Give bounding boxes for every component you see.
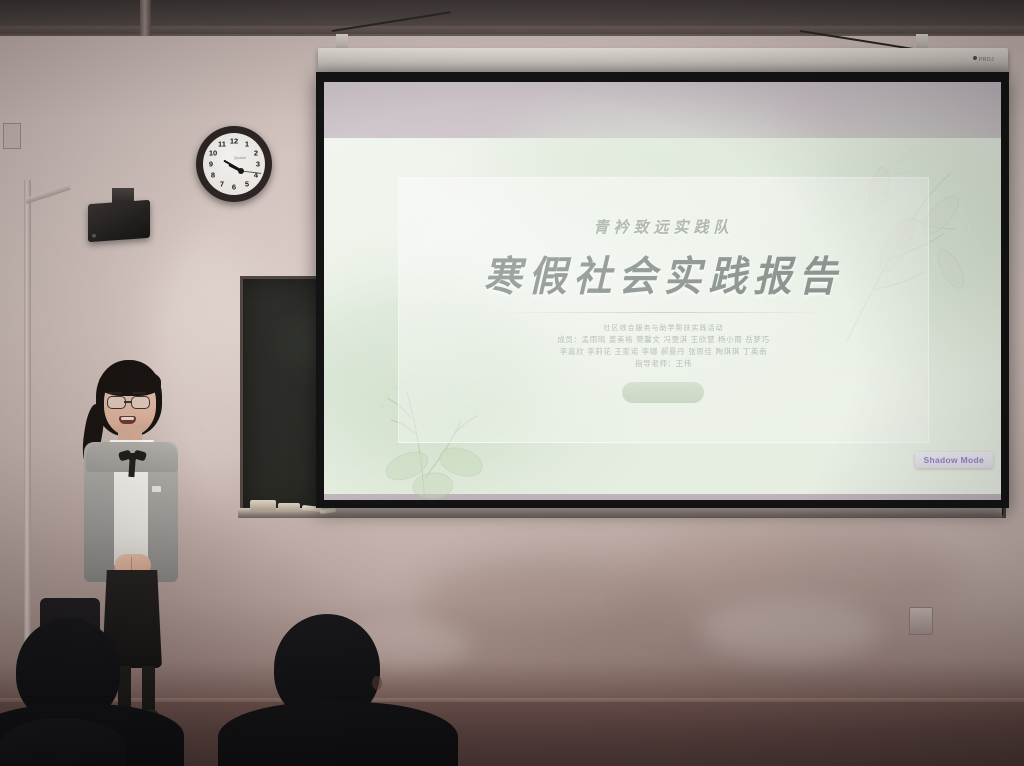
presenter-eyebrow — [108, 392, 122, 394]
slide-meta-line-2: 成员：孟雨晴 姜美格 樊馨文 冯雯淇 王欣慧 杨小雨 岳梦巧 — [557, 334, 769, 346]
clock-numeral: 8 — [211, 171, 215, 180]
slide-divider — [498, 312, 828, 313]
clock-numeral: 9 — [209, 160, 213, 169]
wall-conduit — [24, 180, 31, 650]
clock-numeral: 7 — [220, 180, 224, 189]
presenter-eyebrow — [132, 392, 146, 394]
shadow-mode-badge[interactable]: Shadow Mode — [915, 452, 993, 468]
wall-socket[interactable] — [909, 607, 933, 635]
glasses-lens-right — [131, 396, 150, 409]
projection-screen: 青衿致远实践队 寒假社会实践报告 社区综合服务与助学帮扶实践活动 成员：孟雨晴 … — [316, 72, 1009, 508]
screen-roller-casing[interactable]: PROJ — [318, 48, 1008, 74]
clock-center-pin — [238, 168, 244, 174]
speaker-led — [92, 234, 96, 238]
clock-brand-text: Quartz — [234, 155, 246, 160]
glasses-bridge — [124, 401, 131, 403]
slide-title: 寒假社会实践报告 — [483, 243, 843, 302]
wall-clock: 12 1 2 3 4 5 6 7 8 9 10 11 Quartz — [196, 126, 272, 202]
clock-numeral: 12 — [230, 137, 238, 146]
wall-junction-box — [3, 123, 21, 149]
clock-numeral: 1 — [245, 140, 249, 149]
clock-numeral: 10 — [209, 149, 217, 158]
casing-brand-label: PROJ — [973, 56, 994, 63]
presenter-name-badge — [152, 486, 161, 492]
chalk-tray — [238, 508, 1002, 518]
clock-numeral: 3 — [256, 160, 260, 169]
audience-member-center — [232, 614, 452, 766]
slide-content-card: 青衿致远实践队 寒假社会实践报告 社区综合服务与助学帮扶实践活动 成员：孟雨晴 … — [398, 177, 928, 442]
bow-tie — [120, 450, 144, 464]
slide-meta-block: 社区综合服务与助学帮扶实践活动 成员：孟雨晴 姜美格 樊馨文 冯雯淇 王欣慧 杨… — [557, 322, 769, 370]
projector-letterbox-top — [324, 82, 1001, 138]
presentation-slide: 青衿致远实践队 寒假社会实践报告 社区综合服务与助学帮扶实践活动 成员：孟雨晴 … — [324, 138, 1001, 494]
ceiling-beam — [0, 26, 1024, 36]
blackboard-eraser[interactable] — [250, 500, 276, 511]
slide-meta-line-4: 指导老师：王伟 — [557, 358, 769, 370]
classroom-scene: 12 1 2 3 4 5 6 7 8 9 10 11 Quartz — [0, 0, 1024, 766]
presenter-mouth — [119, 416, 136, 424]
audience-member-left — [0, 608, 190, 766]
clock-numeral: 5 — [245, 180, 249, 189]
slide-subtitle: 青衿致远实践队 — [593, 216, 733, 238]
blackboard-eraser[interactable] — [278, 503, 300, 512]
wall-speaker — [88, 200, 150, 242]
audience-ear — [372, 676, 382, 690]
slide-meta-line-3: 李嘉欣 李莉花 王家诺 李娜 郝曼丹 张思佳 陶琪琪 丁英南 — [557, 346, 769, 358]
slide-institution-badge: 外国语学院 — [622, 382, 704, 403]
slide-text-block: 青衿致远实践队 寒假社会实践报告 社区综合服务与助学帮扶实践活动 成员：孟雨晴 … — [399, 178, 927, 441]
clock-numeral: 6 — [232, 183, 236, 192]
audience-shoulders — [218, 702, 458, 766]
ceiling-pipe — [140, 0, 151, 36]
clock-numeral: 2 — [254, 149, 258, 158]
clock-face: 12 1 2 3 4 5 6 7 8 9 10 11 Quartz — [203, 133, 265, 195]
clock-numerals: 12 1 2 3 4 5 6 7 8 9 10 11 — [203, 133, 265, 195]
slide-meta-line-1: 社区综合服务与助学帮扶实践活动 — [557, 322, 769, 334]
screen-surface: 青衿致远实践队 寒假社会实践报告 社区综合服务与助学帮扶实践活动 成员：孟雨晴 … — [324, 82, 1001, 500]
clock-numeral: 11 — [218, 140, 226, 149]
